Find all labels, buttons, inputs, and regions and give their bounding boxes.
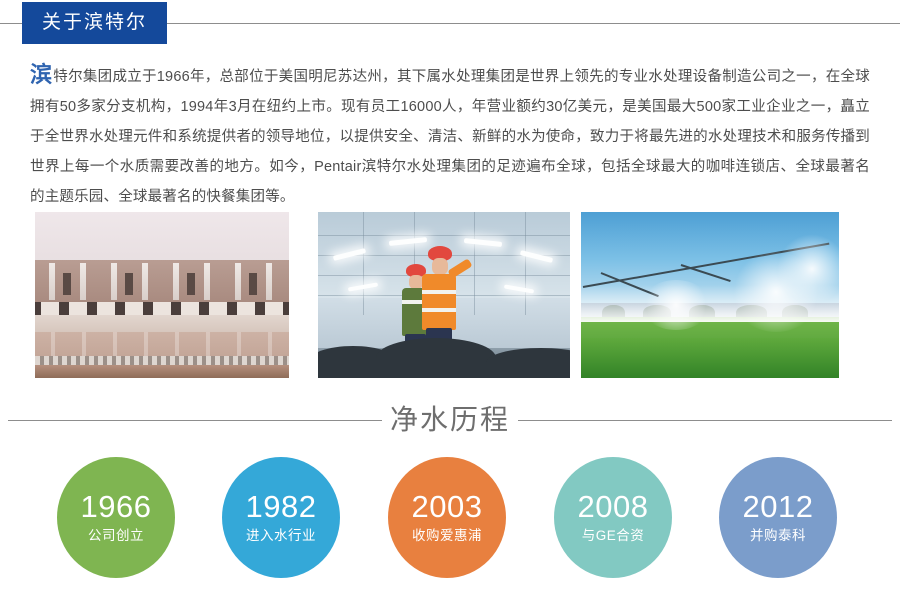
timeline-year: 1966 <box>81 490 152 524</box>
timeline-year: 1982 <box>246 490 317 524</box>
timeline-title: 净水历程 <box>382 398 518 438</box>
timeline-nodes: 1966 公司创立 1982 进入水行业 2003 收购爱惠浦 2008 与GE… <box>0 457 900 582</box>
dam-illustration <box>35 212 289 378</box>
timeline-year: 2008 <box>578 490 649 524</box>
timeline-node-2008[interactable]: 2008 与GE合资 <box>554 457 672 578</box>
paragraph-text: 特尔集团成立于1966年，总部位于美国明尼苏达州，其下属水处理集团是世界上领先的… <box>30 69 870 205</box>
timeline-node-1966[interactable]: 1966 公司创立 <box>57 457 175 578</box>
timeline-label: 公司创立 <box>88 526 144 546</box>
timeline-year: 2003 <box>412 490 483 524</box>
timeline-node-2012[interactable]: 2012 并购泰科 <box>719 457 837 578</box>
about-paragraph: 滨特尔集团成立于1966年，总部位于美国明尼苏达州，其下属水处理集团是世界上领先… <box>30 62 870 212</box>
timeline-label: 与GE合资 <box>582 526 645 546</box>
photo-strip <box>0 212 900 380</box>
timeline-node-2003[interactable]: 2003 收购爱惠浦 <box>388 457 506 578</box>
water-treatment-dam-photo <box>35 212 289 378</box>
section-title-tag: 关于滨特尔 <box>22 2 167 44</box>
factory-engineers-photo <box>318 212 570 378</box>
timeline-year: 2012 <box>743 490 814 524</box>
timeline-rule-left <box>8 420 382 421</box>
warehouse-illustration <box>318 212 570 378</box>
section-header: 关于滨特尔 <box>0 0 900 48</box>
timeline-rule-right <box>518 420 892 421</box>
timeline-label: 收购爱惠浦 <box>412 526 482 546</box>
irrigation-illustration <box>581 212 839 378</box>
irrigation-field-photo <box>581 212 839 378</box>
timeline-label: 进入水行业 <box>246 526 316 546</box>
paragraph-dropcap: 滨 <box>30 62 52 87</box>
timeline-title-bar: 净水历程 <box>0 398 900 442</box>
timeline-label: 并购泰科 <box>750 526 806 546</box>
timeline-node-1982[interactable]: 1982 进入水行业 <box>222 457 340 578</box>
